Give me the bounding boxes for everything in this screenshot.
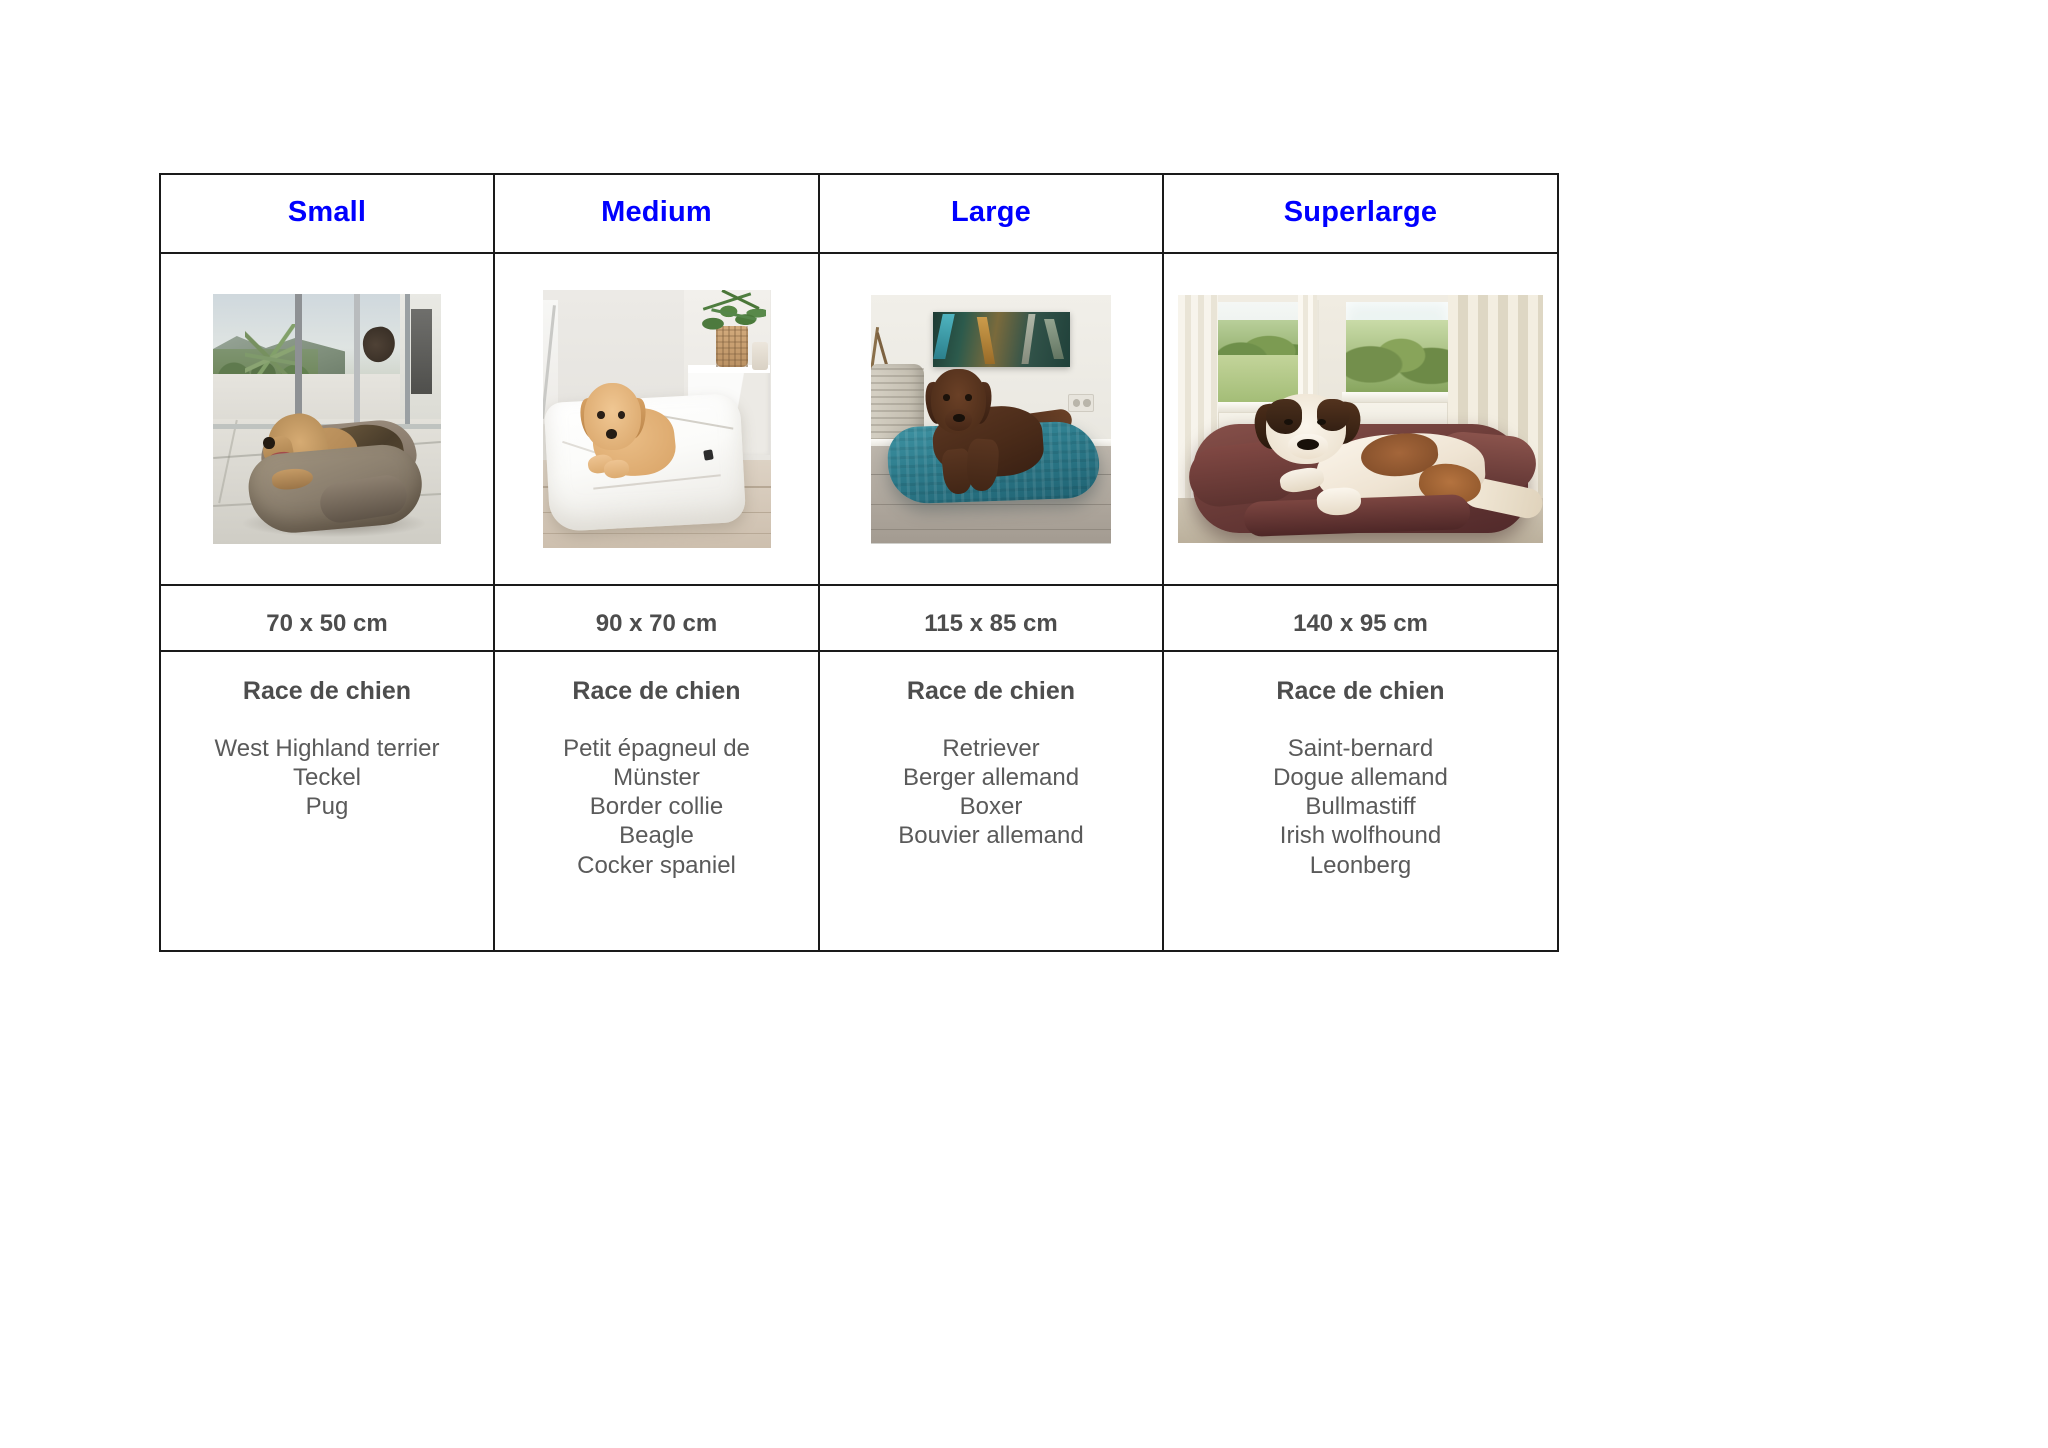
size-name-superlarge: Superlarge	[1164, 198, 1557, 229]
photo3-dog-eye	[965, 394, 972, 400]
breeds-cell-large: Race de chien RetrieverBerger allemandBo…	[819, 651, 1163, 951]
breed-item: Saint-bernard	[1172, 734, 1549, 763]
photo4-hedge	[1346, 320, 1448, 394]
photo2-floor-plank-line	[543, 533, 771, 535]
breeds-list-medium: Petit épagneul deMünsterBorder collieBea…	[503, 734, 810, 880]
breed-item: Retriever	[828, 734, 1154, 763]
breed-item: Beagle	[503, 821, 810, 850]
breeds-cell-medium: Race de chien Petit épagneul deMünsterBo…	[494, 651, 819, 951]
photo3-socket-detail	[1073, 399, 1080, 406]
breeds-box-large: Race de chien RetrieverBerger allemandBo…	[820, 652, 1162, 861]
photo3-dog-eye	[943, 394, 950, 400]
table-header-row: Small Medium Large Superlarge	[160, 174, 1558, 253]
dimensions-cell-large: 115 x 85 cm	[819, 585, 1163, 651]
dimensions-cell-superlarge: 140 x 95 cm	[1163, 585, 1558, 651]
breed-item: Dogue allemand	[1172, 763, 1549, 792]
breeds-list-superlarge: Saint-bernardDogue allemandBullmastiffIr…	[1172, 734, 1549, 880]
breed-item: Leonberg	[1172, 851, 1549, 880]
photo1-dog-nose	[263, 437, 274, 450]
header-cell-large: Large	[819, 174, 1163, 253]
size-name-small: Small	[161, 198, 493, 229]
breeds-box-small: Race de chien West Highland terrierTecke…	[161, 652, 493, 831]
medium-dog-bed-photo	[543, 290, 771, 548]
dog-bed-size-table: Small Medium Large Superlarge	[159, 173, 1559, 952]
breeds-cell-superlarge: Race de chien Saint-bernardDogue alleman…	[1163, 651, 1558, 951]
table-photo-row	[160, 253, 1558, 585]
breeds-list-large: RetrieverBerger allemandBoxerBouvier all…	[828, 734, 1154, 851]
breed-item: Bouvier allemand	[828, 821, 1154, 850]
breed-item: West Highland terrier	[169, 734, 485, 763]
header-cell-medium: Medium	[494, 174, 819, 253]
breeds-cell-small: Race de chien West Highland terrierTecke…	[160, 651, 494, 951]
photo4-dog-nose	[1297, 439, 1319, 450]
breeds-title-superlarge: Race de chien	[1172, 678, 1549, 706]
dimensions-small: 70 x 50 cm	[161, 600, 493, 636]
page: Small Medium Large Superlarge	[0, 0, 2048, 1448]
breed-item: Cocker spaniel	[503, 851, 810, 880]
breeds-title-large: Race de chien	[828, 678, 1154, 706]
photo-wrap-superlarge	[1164, 254, 1557, 584]
photo-cell-superlarge	[1163, 253, 1558, 585]
size-name-large: Large	[820, 198, 1162, 229]
size-name-medium: Medium	[495, 198, 818, 229]
photo2-jar	[752, 342, 768, 370]
dimensions-cell-small: 70 x 50 cm	[160, 585, 494, 651]
breeds-title-small: Race de chien	[169, 678, 485, 706]
photo-cell-small	[160, 253, 494, 585]
photo-wrap-medium	[495, 254, 818, 584]
photo-wrap-large	[820, 254, 1162, 584]
photo-cell-large	[819, 253, 1163, 585]
photo2-dog-eye	[618, 411, 625, 419]
photo-cell-medium	[494, 253, 819, 585]
photo-wrap-small	[161, 254, 493, 584]
breed-item: Border collie	[503, 792, 810, 821]
photo2-dog-nose	[606, 429, 616, 438]
breed-item: Petit épagneul de	[503, 734, 810, 763]
photo3-floor-plank-line	[871, 529, 1111, 531]
breeds-box-medium: Race de chien Petit épagneul deMünsterBo…	[495, 652, 818, 890]
breeds-title-medium: Race de chien	[503, 678, 810, 706]
breed-item: Münster	[503, 763, 810, 792]
photo4-window-sill	[1342, 392, 1452, 402]
photo3-floor-plank-line	[871, 504, 1111, 506]
table-breeds-row: Race de chien West Highland terrierTecke…	[160, 651, 1558, 951]
header-cell-superlarge: Superlarge	[1163, 174, 1558, 253]
breed-item: Pug	[169, 792, 485, 821]
header-cell-small: Small	[160, 174, 494, 253]
photo3-socket-detail	[1083, 399, 1090, 406]
small-dog-bed-photo	[213, 294, 441, 544]
breed-item: Boxer	[828, 792, 1154, 821]
photo1-dark-doorway	[411, 309, 432, 394]
photo1-window-mullion	[405, 294, 410, 424]
dimensions-cell-medium: 90 x 70 cm	[494, 585, 819, 651]
photo2-dog-head	[584, 383, 641, 450]
breed-item: Teckel	[169, 763, 485, 792]
breeds-box-superlarge: Race de chien Saint-bernardDogue alleman…	[1164, 652, 1557, 890]
superlarge-dog-bed-photo	[1178, 295, 1543, 543]
dimensions-large: 115 x 85 cm	[820, 600, 1162, 636]
photo4-dog-face-mask	[1317, 399, 1350, 431]
breeds-list-small: West Highland terrierTeckelPug	[169, 734, 485, 822]
breed-item: Irish wolfhound	[1172, 821, 1549, 850]
photo4-dog-face-mask	[1266, 399, 1303, 434]
dimensions-medium: 90 x 70 cm	[495, 600, 818, 636]
dimensions-superlarge: 140 x 95 cm	[1164, 600, 1557, 636]
table-dimensions-row: 70 x 50 cm 90 x 70 cm 115 x 85 cm 140 x …	[160, 585, 1558, 651]
photo1-window-mullion	[354, 294, 360, 429]
large-dog-bed-photo	[871, 295, 1111, 544]
photo2-dog-eye	[597, 411, 604, 419]
breed-item: Berger allemand	[828, 763, 1154, 792]
breed-item: Bullmastiff	[1172, 792, 1549, 821]
